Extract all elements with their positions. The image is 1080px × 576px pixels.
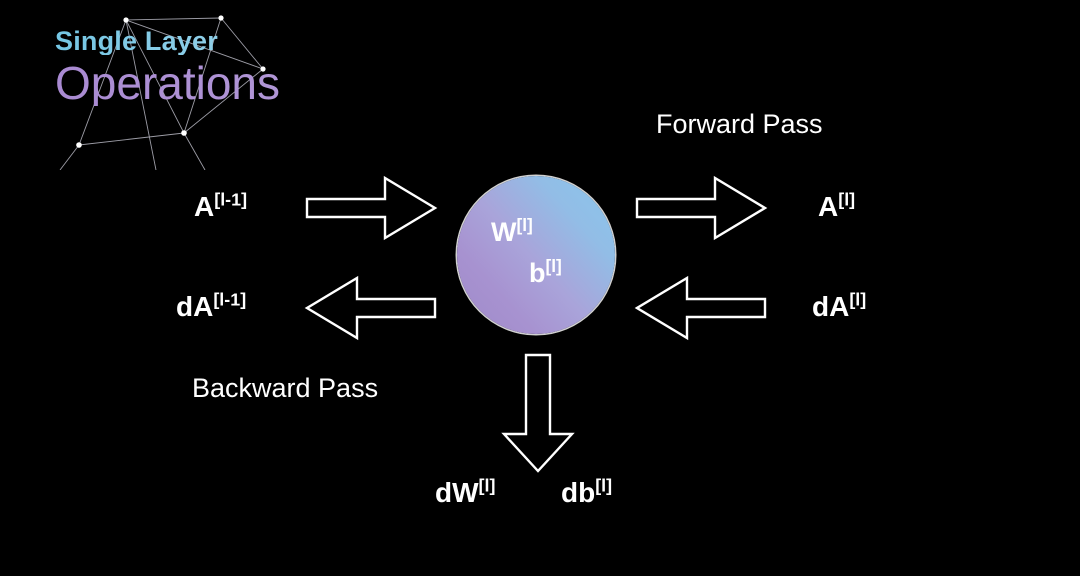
layer-node-symbols: W[l] b[l] — [457, 176, 615, 334]
label-db-superscript: [l] — [595, 476, 612, 496]
backward-output-arrow-icon — [303, 272, 439, 344]
network-node — [218, 15, 223, 20]
label-da-in-base: dA — [812, 291, 849, 322]
label-activation-out: A[l] — [818, 191, 855, 223]
slide-canvas: Single Layer Operations Forward Pass Bac… — [0, 0, 1080, 576]
forward-output-arrow-icon — [633, 172, 769, 244]
network-edge — [126, 18, 221, 20]
label-da-prev-superscript: [l-1] — [213, 290, 246, 310]
label-db-base: db — [561, 477, 595, 508]
label-da-in-superscript: [l] — [849, 290, 866, 310]
network-node — [181, 130, 187, 136]
weights-symbol: W[l] — [491, 217, 533, 248]
title-line-primary: Single Layer — [55, 28, 475, 55]
backward-pass-caption: Backward Pass — [192, 373, 378, 404]
weights-symbol-base: W — [491, 217, 516, 247]
label-da-prev-base: dA — [176, 291, 213, 322]
network-node — [123, 17, 128, 22]
bias-symbol-base: b — [529, 258, 546, 288]
gradients-down-arrow-icon — [500, 352, 576, 474]
label-a-prev-base: A — [194, 191, 214, 222]
page-title: Single Layer Operations — [55, 28, 475, 106]
title-line-secondary: Operations — [55, 60, 475, 106]
forward-input-arrow-icon — [303, 172, 439, 244]
layer-node[interactable]: W[l] b[l] — [457, 176, 615, 334]
network-node — [76, 142, 82, 148]
label-grad-weights: dW[l] — [435, 477, 495, 509]
label-activation-prev: A[l-1] — [194, 191, 247, 223]
label-grad-activation-in: dA[l] — [812, 291, 866, 323]
forward-pass-caption: Forward Pass — [656, 109, 823, 140]
label-dw-base: dW — [435, 477, 479, 508]
bias-symbol: b[l] — [529, 258, 562, 289]
network-edge — [79, 133, 184, 145]
label-a-out-superscript: [l] — [838, 190, 855, 210]
weights-symbol-superscript: [l] — [516, 215, 532, 235]
label-grad-activation-prev: dA[l-1] — [176, 291, 246, 323]
network-edge — [60, 145, 79, 170]
label-dw-superscript: [l] — [479, 476, 496, 496]
label-grad-bias: db[l] — [561, 477, 612, 509]
bias-symbol-superscript: [l] — [546, 256, 562, 276]
backward-input-arrow-icon — [633, 272, 769, 344]
network-edge — [184, 133, 205, 170]
label-a-prev-superscript: [l-1] — [214, 190, 247, 210]
label-a-out-base: A — [818, 191, 838, 222]
